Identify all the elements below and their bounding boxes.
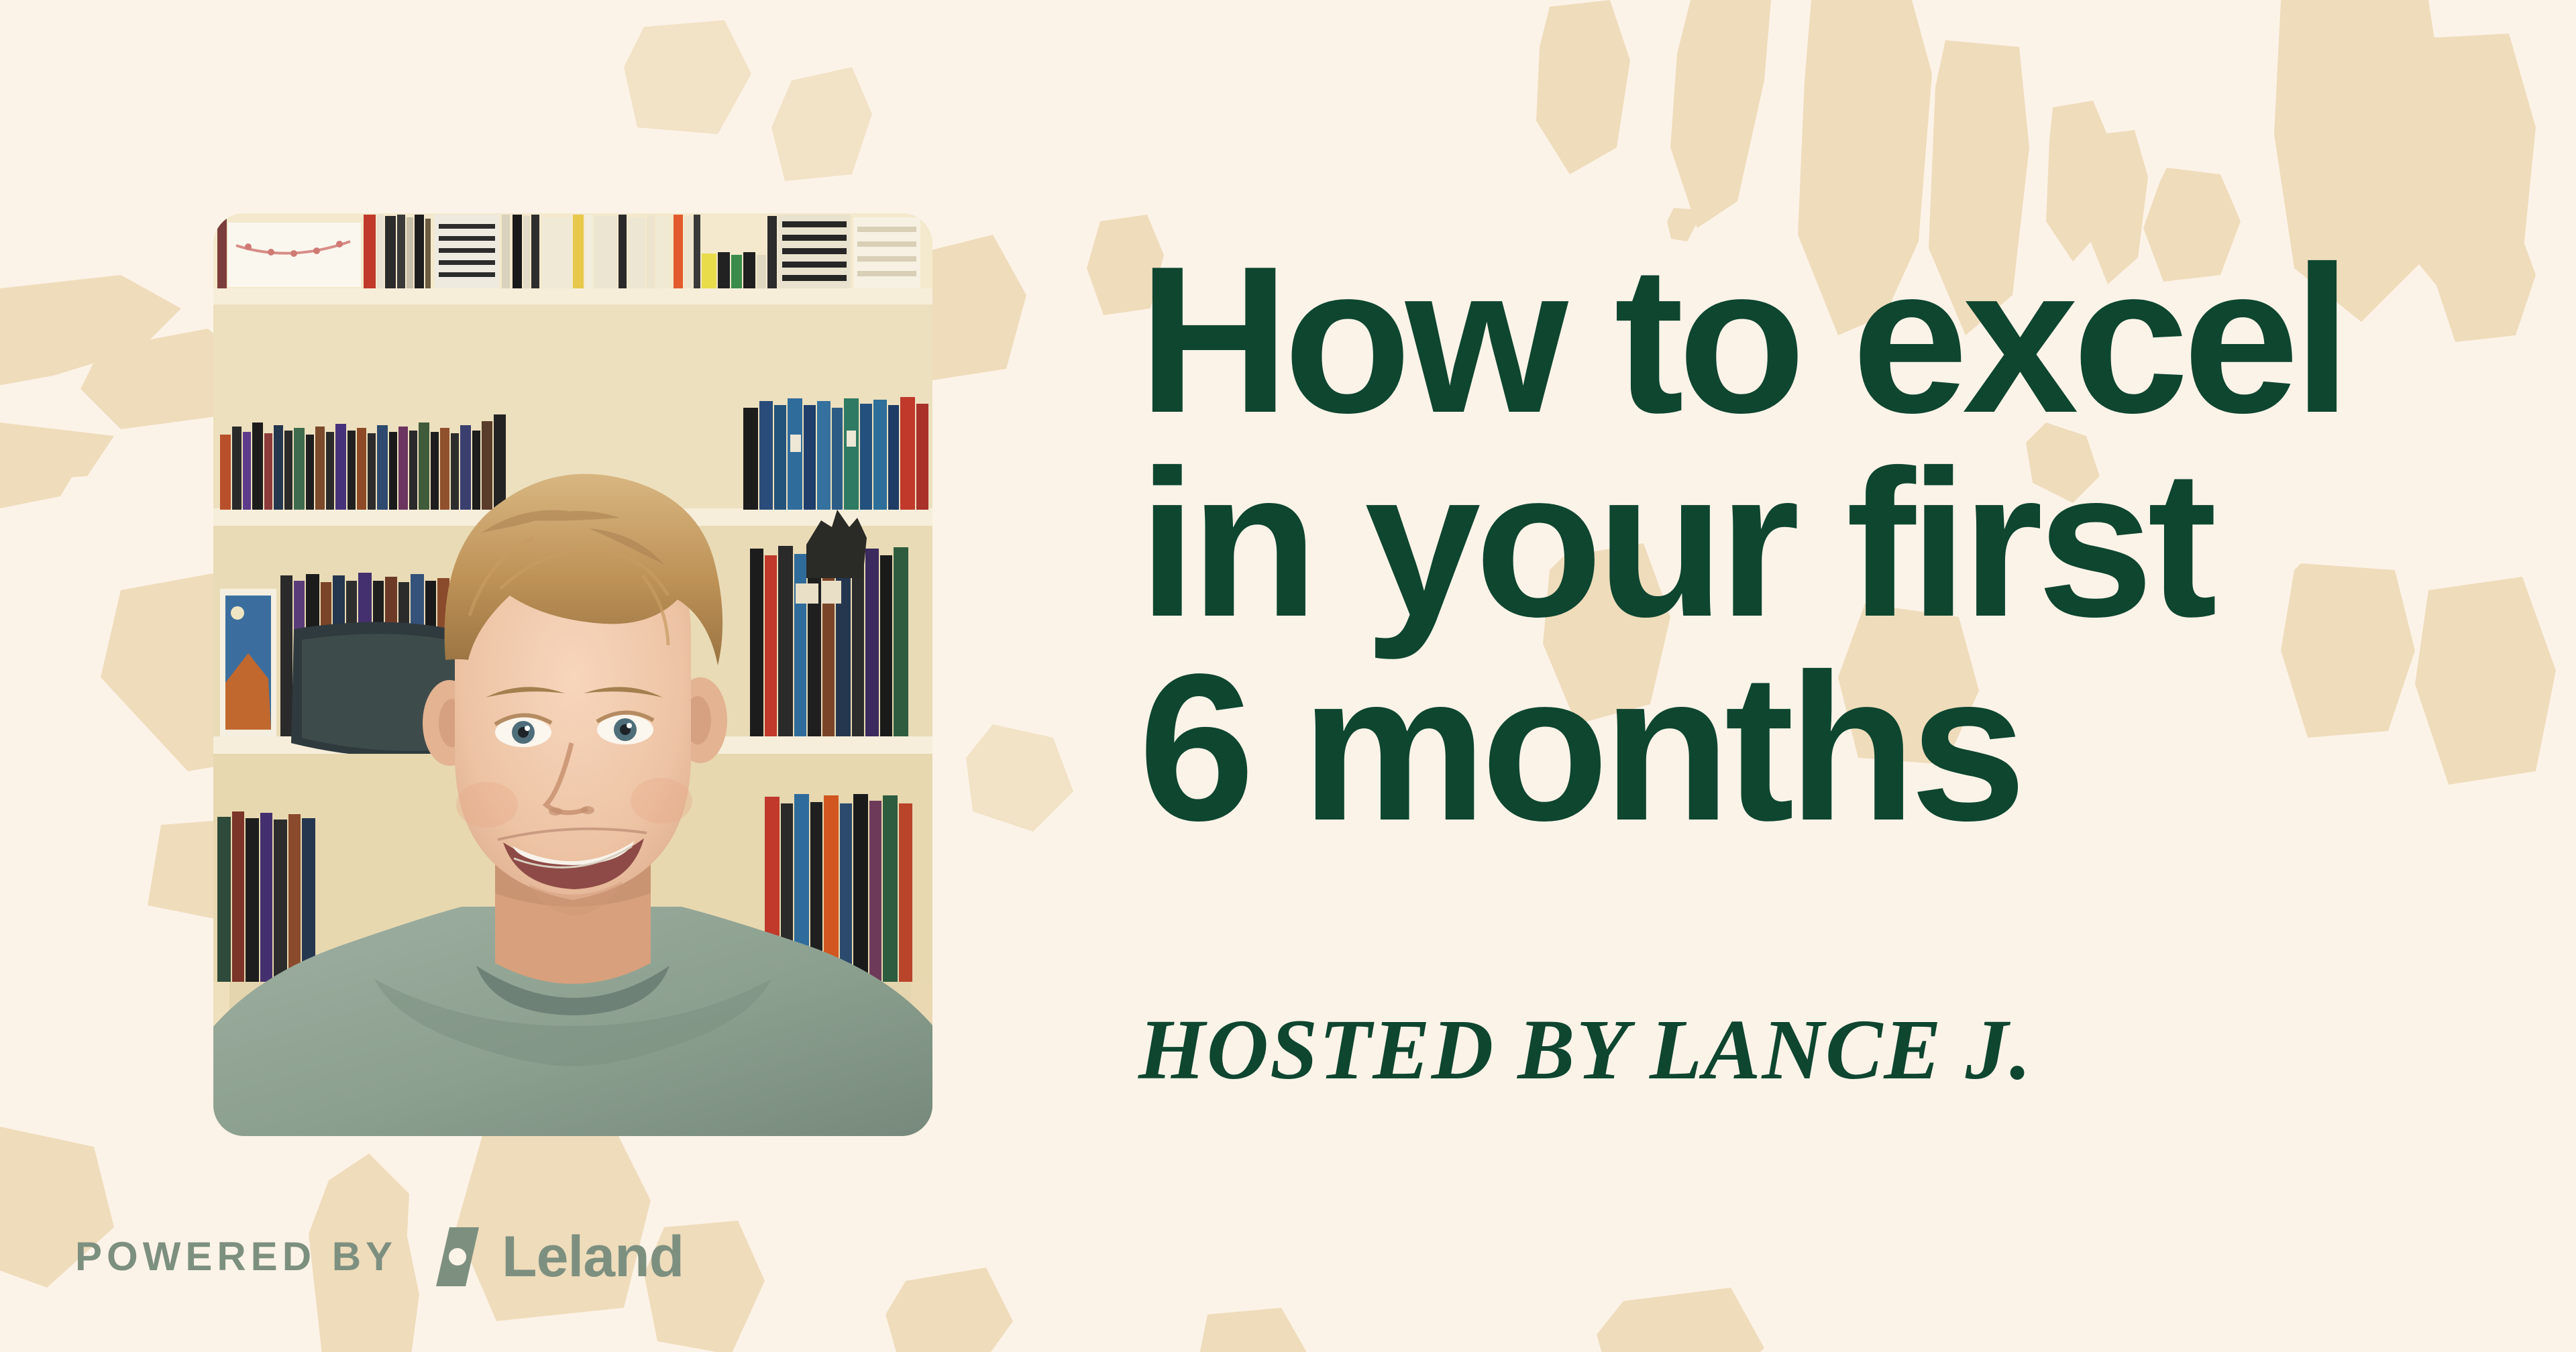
leland-diamond-icon <box>423 1222 492 1292</box>
leland-logo: Leland <box>423 1222 684 1292</box>
headline-line-1: How to excel <box>1138 238 2480 442</box>
headline: How to excel in your first 6 months <box>1138 238 2480 850</box>
leland-wordmark: Leland <box>502 1228 684 1286</box>
host-credit: HOSTED BY LANCE J. <box>1138 1001 2033 1099</box>
headline-line-3: 6 months <box>1138 646 2480 850</box>
host-photo <box>213 213 932 1136</box>
headline-line-2: in your first <box>1138 442 2480 646</box>
promo-banner: How to excel in your first 6 months HOST… <box>0 0 2576 1352</box>
powered-by-label: POWERED BY <box>75 1237 397 1277</box>
footer-branding: POWERED BY Leland <box>75 1225 684 1289</box>
